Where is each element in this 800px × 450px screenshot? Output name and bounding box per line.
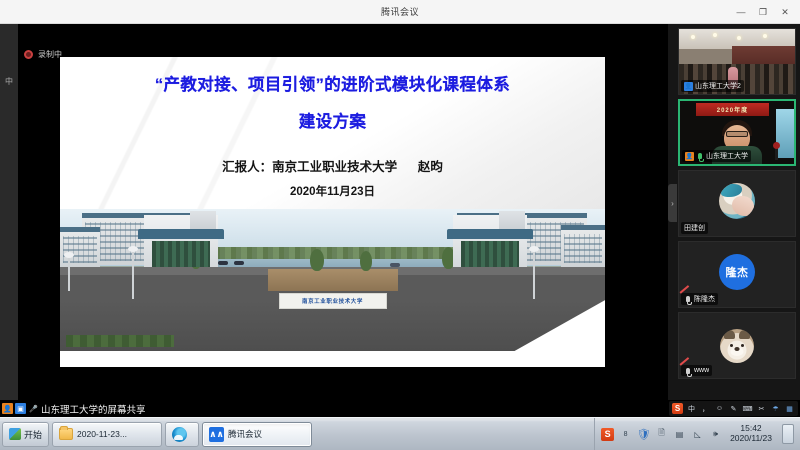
mic-muted-icon: [684, 366, 692, 375]
participant-tile[interactable]: 2020年度 👤 山东理工大学: [678, 99, 796, 166]
taskbar-item-label: 腾讯会议: [228, 428, 262, 440]
window-title: 腾讯会议: [381, 5, 419, 18]
tencent-meeting-icon: ∧∧: [209, 427, 224, 442]
menu-grid-icon[interactable]: ▦: [784, 403, 795, 414]
window-titlebar[interactable]: 腾讯会议 — ❐ ✕: [0, 0, 800, 24]
taskbar-clock[interactable]: 15:42 2020/11/23: [727, 424, 775, 444]
slide-bottom-band: [60, 351, 605, 367]
participant-name: www: [694, 367, 709, 374]
hidden-icons-icon[interactable]: 8: [619, 428, 632, 441]
chinese-mode-icon[interactable]: 中: [5, 76, 13, 87]
photo-gatehouse-left: [144, 215, 218, 267]
folder-icon: [59, 428, 73, 440]
slide-title: “产教对接、项目引领”的进阶式模块化课程体系: [60, 77, 605, 94]
photo-streetlamp: [68, 257, 70, 291]
mic-on-icon[interactable]: 🎤: [28, 403, 39, 414]
photo-car: [234, 261, 244, 265]
sogou-tray-icon[interactable]: S: [601, 428, 614, 441]
participant-tile[interactable]: 隆杰 陈隆杰: [678, 241, 796, 308]
campus-gate-photo: 南京工业职业技术大学: [60, 209, 605, 351]
photo-streetlamp: [533, 251, 535, 299]
avatar: [720, 329, 754, 363]
screen-share-label: 山东理工大学的屏幕共享: [41, 402, 146, 416]
document-icon[interactable]: 🗎: [655, 428, 668, 441]
display-icon[interactable]: ◺: [691, 428, 704, 441]
photo-central-plaza: [268, 269, 398, 291]
keyboard-icon[interactable]: ⌨: [742, 403, 753, 414]
user-badge-icon: 👤: [685, 152, 694, 161]
participant-name: 陈隆杰: [694, 294, 715, 304]
participant-name-chip: www: [681, 365, 712, 376]
photo-tree: [360, 251, 372, 271]
system-tray: S 8 🛡 🗎 ▤ ◺ 🕪 15:42 2020/11/23: [594, 418, 798, 450]
participant-tile[interactable]: 田建创: [678, 170, 796, 237]
participant-tile[interactable]: 👤 山东理工大学2: [678, 28, 796, 95]
edge-browser-icon: [172, 427, 187, 442]
photo-university-sign-text: 南京工业职业技术大学: [302, 297, 363, 305]
user-badge-icon: 👤: [684, 82, 693, 91]
screen-root: 正在解析·请稍候进入大厅 ♥♥♥ 腾讯会议 — ❐ ✕ 中 录制中: [0, 0, 800, 450]
photo-building-far-left: [60, 227, 100, 267]
participant-name: 山东理工大学: [706, 151, 748, 161]
ime-side-strip[interactable]: 中: [0, 24, 18, 400]
restore-icon[interactable]: ❐: [752, 1, 774, 23]
tencent-meeting-window: 腾讯会议 — ❐ ✕ 中 录制中: [0, 0, 800, 400]
mic-on-icon: [696, 152, 704, 161]
photo-tree: [310, 249, 324, 271]
photo-hedge: [66, 335, 174, 347]
clock-date: 2020/11/23: [730, 434, 772, 444]
photo-gatehouse-right: [453, 215, 527, 267]
slide-presenter-line: 汇报人：南京工业职业技术大学 赵昀: [60, 156, 605, 175]
emoji-icon[interactable]: ☺: [714, 403, 725, 414]
toolbox-icon[interactable]: ✂: [756, 403, 767, 414]
start-button[interactable]: 开始: [2, 422, 49, 447]
participant-name: 田建创: [684, 223, 705, 233]
participant-name-chip: 👤 山东理工大学2: [681, 80, 744, 92]
participant-name-chip: 田建创: [681, 222, 708, 234]
network-icon[interactable]: ▤: [673, 428, 686, 441]
taskbar-item-folder[interactable]: 2020-11-23...: [52, 422, 162, 447]
mic-muted-icon: [684, 295, 692, 304]
photo-streetlamp: [132, 251, 134, 299]
chevron-right-icon[interactable]: ›: [668, 184, 677, 222]
window-body: 中 录制中 “产教对接、项目引领”的进阶式模块化课程体系 建设方案 汇报人：南京…: [0, 24, 800, 400]
slide-heading-block: “产教对接、项目引领”的进阶式模块化课程体系 建设方案: [60, 77, 605, 132]
participant-name-chip: 👤 山东理工大学: [682, 150, 751, 162]
slide-date: 2020年11月23日: [60, 183, 605, 199]
chinese-mode-icon[interactable]: 中: [686, 403, 697, 414]
close-icon[interactable]: ✕: [774, 1, 796, 23]
photo-university-sign: 南京工业职业技术大学: [279, 293, 387, 309]
window-controls: — ❐ ✕: [730, 0, 796, 24]
start-button-label: 开始: [24, 428, 42, 441]
recording-label: 录制中: [38, 49, 62, 60]
taskbar-item-tencent-meeting[interactable]: ∧∧ 腾讯会议: [202, 422, 312, 447]
photo-car: [390, 263, 400, 267]
recording-indicator: 录制中: [24, 49, 62, 60]
taskbar-item-label: 2020-11-23...: [77, 429, 127, 439]
windows-taskbar: 开始 2020-11-23... ∧∧ 腾讯会议 S 8 🛡 🗎 ▤ ◺ 🕪 1…: [0, 417, 800, 450]
avatar: [719, 183, 755, 219]
sogou-logo-icon[interactable]: S: [672, 403, 683, 414]
photo-building-far-right: [561, 225, 605, 267]
security-shield-icon[interactable]: 🛡: [637, 428, 650, 441]
windows-start-icon: [9, 428, 21, 440]
volume-muted-icon[interactable]: 🕪: [709, 428, 722, 441]
minimize-icon[interactable]: —: [730, 1, 752, 23]
shared-screen-stage: 录制中 “产教对接、项目引领”的进阶式模块化课程体系 建设方案 汇报人：南京工业…: [18, 24, 668, 400]
participant-tile[interactable]: www: [678, 312, 796, 379]
participant-name: 山东理工大学2: [695, 81, 741, 91]
show-desktop-icon[interactable]: [782, 424, 794, 444]
avatar: 隆杰: [719, 254, 755, 290]
punctuation-icon[interactable]: ，: [700, 403, 711, 414]
handwriting-icon[interactable]: ✎: [728, 403, 739, 414]
record-dot-icon: [24, 50, 33, 59]
user-badge-icon: 👤: [2, 403, 13, 414]
sogou-ime-toolbar[interactable]: S 中 ， ☺ ✎ ⌨ ✂ ☂ ▦: [669, 401, 798, 416]
taskbar-item-browser[interactable]: [165, 422, 199, 447]
presentation-slide: “产教对接、项目引领”的进阶式模块化课程体系 建设方案 汇报人：南京工业职业技术…: [60, 57, 605, 367]
slide-white-corner-overlay: [511, 299, 605, 351]
participant-sidebar: › 👤 山东理工大学2: [668, 24, 800, 400]
slide-subtitle: 建设方案: [60, 114, 605, 131]
participant-name-chip: 陈隆杰: [681, 293, 718, 305]
skin-icon[interactable]: ☂: [770, 403, 781, 414]
photo-car: [218, 261, 228, 265]
video-camera-icon[interactable]: ▣: [15, 403, 26, 414]
